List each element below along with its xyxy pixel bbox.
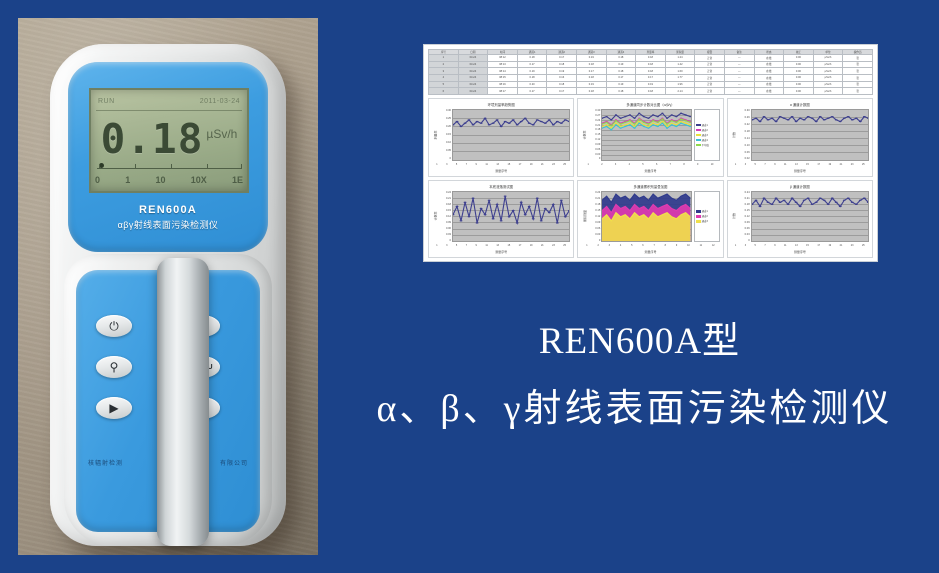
y-tick-label: 0.21: [588, 197, 600, 200]
table-cell: 0.16: [547, 74, 577, 81]
legend-label: 通道4: [702, 138, 708, 142]
y-tick-label: 0.03: [738, 233, 750, 236]
y-axis-label: 计数: [731, 191, 738, 243]
y-tick-label: 0.09: [588, 221, 600, 224]
y-tick-label: 0.15: [588, 133, 600, 136]
x-tick-label: 7: [466, 163, 467, 166]
table-cell: 0.18: [576, 61, 606, 68]
table-cell: 在线: [754, 74, 784, 81]
table-cell: 3: [429, 68, 459, 75]
legend-swatch: [696, 144, 701, 147]
table-cell: 正常: [695, 74, 725, 81]
plot-area: [452, 191, 570, 243]
x-axis-label: 测量序号: [731, 168, 869, 174]
device-model-label: REN600A: [68, 204, 268, 216]
lcd-bargraph: [97, 161, 241, 169]
x-tick-label: 25: [563, 244, 566, 247]
legend-label: 通道3: [702, 219, 708, 223]
x-tick-label: 19: [828, 163, 831, 166]
x-tick-label: 17: [817, 244, 820, 247]
table-cell: 0.19: [517, 68, 547, 75]
table-cell: 0.18: [576, 88, 606, 95]
y-tick-label: 0.10: [439, 141, 451, 144]
legend-item: 通道3: [696, 133, 718, 137]
y-axis-label: 累积剂量: [581, 191, 588, 243]
y-tick-label: 0.21: [738, 197, 750, 200]
table-cell: 0.19: [576, 55, 606, 62]
x-tick-label: 5: [456, 244, 457, 247]
table-cell: 1.24: [665, 55, 695, 62]
table-cell: 在线: [754, 68, 784, 75]
table-cell: 08:15: [488, 74, 518, 81]
x-tick-label: 23: [851, 163, 854, 166]
chart-legend: 通道1通道2通道3通道4平均值: [694, 109, 720, 161]
x-tick-label: 21: [840, 244, 843, 247]
lcd-unit: µSv/h: [206, 127, 237, 141]
table-cell: 1: [429, 55, 459, 62]
x-tick-label: 8: [665, 244, 666, 247]
brand-text-left: 核辐射检测: [88, 458, 123, 467]
y-tick-label: 0.10: [738, 144, 750, 147]
start-button[interactable]: ▶: [96, 397, 132, 419]
y-axis-ticks: 0.300.260.220.180.140.100.060.02: [738, 109, 751, 161]
y-tick-label: 0.14: [738, 137, 750, 140]
table-cell: 正常: [695, 88, 725, 95]
table-cell: 在线: [754, 81, 784, 88]
x-tick-label: 3: [446, 163, 447, 166]
table-cell: 2.14: [665, 88, 695, 95]
legend-label: 通道1: [702, 123, 708, 127]
legend-item: 通道2: [696, 128, 718, 132]
table-cell: 0.00: [784, 55, 814, 62]
table-cell: 0.18: [636, 88, 666, 95]
table-cell: 08:14: [488, 68, 518, 75]
table-cell: —: [724, 61, 754, 68]
x-tick-label: 1: [735, 163, 736, 166]
lcd-scale-labels: 0 1 10 10X 1E: [95, 173, 243, 187]
y-axis-label: 计数: [731, 109, 738, 161]
table-cell: 0.19: [606, 81, 636, 88]
x-axis-label: 测量序号: [432, 249, 570, 255]
chart-body: 计数率0.240.210.180.150.120.090.060.030: [432, 191, 570, 243]
x-tick-label: 2: [601, 163, 602, 166]
y-tick-label: 0.15: [439, 209, 451, 212]
x-tick-label: 13: [795, 244, 798, 247]
x-tick-label: 7: [653, 244, 654, 247]
chart-body: 累积剂量0.240.210.180.150.120.090.060.030通道1…: [581, 191, 719, 243]
chart-grid: 环境剂量率趋势图剂量率0.300.250.200.150.100.0501357…: [428, 98, 873, 258]
y-axis-label: 计数率: [432, 191, 439, 243]
y-axis-ticks: 0.240.210.180.150.120.090.060.030: [738, 191, 751, 243]
table-cell: 1.42: [665, 61, 695, 68]
table-cell: 1.96: [665, 81, 695, 88]
table-cell: 0.00: [784, 61, 814, 68]
table-cell: 0.18: [606, 55, 636, 62]
table-row[interactable]: 403-2408:150.180.160.180.170.171.77正常—在线…: [429, 74, 873, 81]
table-cell: 0.17: [547, 55, 577, 62]
table-cell: —: [724, 55, 754, 62]
x-tick-label: 1: [436, 244, 437, 247]
table-cell: 0.18: [606, 88, 636, 95]
x-tick-label: 1: [735, 244, 736, 247]
y-tick-label: 0.05: [439, 149, 451, 152]
x-tick-label: 3: [615, 163, 616, 166]
plot-area: [751, 191, 869, 243]
y-tick-label: 0.21: [439, 197, 451, 200]
x-axis-ticks: 123456789101112: [581, 242, 719, 249]
x-tick-label: 9: [476, 244, 477, 247]
table-cell: µSv/h: [813, 88, 843, 95]
x-tick-label: 10: [687, 244, 690, 247]
y-tick-label: 0.12: [588, 138, 600, 141]
plot-area: [601, 191, 691, 243]
x-tick-label: 11: [485, 163, 487, 166]
table-row[interactable]: 503-2408:160.200.180.190.190.191.96正常—在线…: [429, 81, 873, 88]
product-photo: RUN 2011-03-24 0.18 µSv/h 0 1 10 10X 1E …: [18, 18, 318, 555]
x-tick-label: 11: [784, 163, 786, 166]
chart-title: 多通道累积剂量叠加图: [581, 183, 719, 191]
legend-label: 通道3: [702, 133, 708, 137]
lcd-bargraph-axis: [97, 168, 241, 169]
chart-legend: 通道1通道2通道3: [694, 191, 720, 243]
data-table: 序号日期时间通道1通道2通道3通道4剂量率累积量报警备注状态校正单位操作员 10…: [428, 49, 873, 95]
x-tick-label: 21: [541, 163, 544, 166]
y-tick-label: 0.27: [588, 114, 600, 117]
lcd-reading: 0.18 µSv/h: [91, 112, 247, 166]
x-tick-label: 19: [828, 244, 831, 247]
gridline: [752, 241, 868, 242]
x-axis-label: 测量序号: [581, 249, 719, 255]
x-axis-label: 测量序号: [432, 168, 570, 174]
x-tick-label: 9: [697, 163, 698, 166]
y-tick-label: 0.09: [588, 143, 600, 146]
table-cell: 0.18: [547, 61, 577, 68]
legend-label: 通道1: [702, 209, 708, 213]
legend-swatch: [696, 134, 701, 137]
x-tick-label: 6: [642, 244, 643, 247]
chart-panel[interactable]: β 通道计数图计数0.240.210.180.150.120.090.060.0…: [727, 180, 873, 259]
x-tick-label: 9: [774, 244, 775, 247]
x-tick-label: 25: [862, 163, 865, 166]
table-cell: 0.17: [517, 88, 547, 95]
gridline: [752, 160, 868, 161]
table-cell: 03-24: [458, 68, 488, 75]
x-tick-label: 13: [496, 244, 499, 247]
x-tick-label: 3: [745, 163, 746, 166]
table-cell: 0.18: [517, 74, 547, 81]
gridline: [602, 241, 690, 242]
x-tick-label: 23: [552, 163, 555, 166]
table-cell: 0.18: [636, 68, 666, 75]
table-cell: 1.77: [665, 74, 695, 81]
legend-label: 通道2: [702, 128, 708, 132]
table-cell: —: [724, 88, 754, 95]
play-icon: ▶: [109, 402, 118, 414]
x-tick-label: 15: [508, 163, 511, 166]
x-tick-label: 25: [563, 163, 566, 166]
chart-title: β 通道计数图: [731, 183, 869, 191]
y-tick-label: 0.30: [588, 109, 600, 112]
table-cell: 0.18: [636, 61, 666, 68]
table-cell: 0.18: [636, 55, 666, 62]
x-tick-label: 8: [683, 163, 684, 166]
table-cell: 张: [843, 74, 873, 81]
y-tick-label: 0.12: [738, 215, 750, 218]
power-button[interactable]: ⏻: [96, 315, 132, 337]
lcd-display: RUN 2011-03-24 0.18 µSv/h 0 1 10 10X 1E: [89, 88, 249, 193]
x-axis-ticks: 12345678910: [581, 161, 719, 168]
table-cell: 张: [843, 81, 873, 88]
lcd-tick: [135, 164, 136, 169]
y-tick-label: 0.25: [439, 117, 451, 120]
table-cell: 08:12: [488, 55, 518, 62]
y-tick-label: 0.24: [588, 191, 600, 194]
y-tick-label: 0.15: [738, 209, 750, 212]
x-tick-label: 9: [676, 244, 677, 247]
x-tick-label: 3: [446, 244, 447, 247]
chart-panel[interactable]: 多通道同步计数对比图（α/β/γ）计数率0.300.270.240.210.18…: [577, 98, 723, 177]
x-axis-label: 测量序号: [731, 249, 869, 255]
x-tick-label: 7: [764, 163, 765, 166]
y-tick-label: 0.20: [439, 125, 451, 128]
hand-strap: [157, 258, 209, 546]
y-tick-label: 0.06: [588, 148, 600, 151]
y-tick-label: 0.15: [588, 209, 600, 212]
table-cell: µSv/h: [813, 81, 843, 88]
lcd-status-row: RUN 2011-03-24: [91, 93, 247, 109]
table-row[interactable]: 603-2408:170.170.170.180.180.182.14正常—在线…: [429, 88, 873, 95]
table-cell: 0.00: [784, 88, 814, 95]
table-body: 103-2408:120.180.170.190.180.181.24正常—在线…: [429, 55, 873, 95]
x-tick-label: 19: [530, 244, 533, 247]
y-axis-ticks: 0.300.270.240.210.180.150.120.090.060.03…: [588, 109, 601, 161]
chart-panel[interactable]: 多通道累积剂量叠加图累积剂量0.240.210.180.150.120.090.…: [577, 180, 723, 259]
table-cell: 0.00: [784, 68, 814, 75]
table-cell: 1.60: [665, 68, 695, 75]
table-cell: 0.17: [606, 74, 636, 81]
table-cell: 张: [843, 68, 873, 75]
chart-panel[interactable]: 本底涨落测试图计数率0.240.210.180.150.120.090.060.…: [428, 180, 574, 259]
table-cell: µSv/h: [813, 61, 843, 68]
table-cell: 03-24: [458, 55, 488, 62]
table-cell: 08:17: [488, 88, 518, 95]
chart-body: 计数0.240.210.180.150.120.090.060.030: [731, 191, 869, 243]
chart-panel[interactable]: 环境剂量率趋势图剂量率0.300.250.200.150.100.0501357…: [428, 98, 574, 177]
x-tick-label: 5: [755, 163, 756, 166]
x-tick-label: 15: [806, 163, 809, 166]
table-cell: 0.18: [606, 68, 636, 75]
lcd-tick: [171, 164, 172, 169]
table-cell: 0.19: [576, 81, 606, 88]
x-tick-label: 5: [755, 244, 756, 247]
chart-title: 环境剂量率趋势图: [432, 101, 570, 109]
x-tick-label: 21: [840, 163, 843, 166]
y-tick-label: 0.18: [738, 130, 750, 133]
table-cell: µSv/h: [813, 74, 843, 81]
x-axis-ticks: 135791113151719212325: [731, 161, 869, 168]
y-tick-label: 0.21: [588, 124, 600, 127]
plot-area: [751, 109, 869, 161]
x-tick-label: 7: [670, 163, 671, 166]
gridline: [602, 160, 690, 161]
lcd-scale-label: 0: [95, 175, 100, 185]
legend-swatch: [696, 215, 701, 218]
legend-item: 通道3: [696, 219, 718, 223]
chart-body: 计数0.300.260.220.180.140.100.060.02: [731, 109, 869, 161]
y-tick-label: 0.26: [738, 116, 750, 119]
y-axis-ticks: 0.240.210.180.150.120.090.060.030: [439, 191, 452, 243]
chart-title: α 通道计数图: [731, 101, 869, 109]
x-tick-label: 13: [496, 163, 499, 166]
y-axis-ticks: 0.300.250.200.150.100.050: [439, 109, 452, 161]
table-cell: µSv/h: [813, 68, 843, 75]
x-tick-label: 9: [774, 163, 775, 166]
y-tick-label: 0.24: [439, 191, 451, 194]
x-tick-label: 7: [466, 244, 467, 247]
table-cell: 正常: [695, 55, 725, 62]
table-cell: —: [724, 68, 754, 75]
plot-area: [452, 109, 570, 161]
y-axis-ticks: 0.240.210.180.150.120.090.060.030: [588, 191, 601, 243]
legend-swatch: [696, 139, 701, 142]
y-tick-label: 0.06: [439, 227, 451, 230]
table-cell: 正常: [695, 81, 725, 88]
table-cell: 正常: [695, 61, 725, 68]
y-tick-label: 0.15: [439, 133, 451, 136]
x-tick-label: 5: [642, 163, 643, 166]
table-cell: 0.00: [784, 74, 814, 81]
x-tick-label: 25: [862, 244, 865, 247]
x-tick-label: 1: [436, 163, 437, 166]
x-tick-label: 15: [806, 244, 809, 247]
legend-swatch: [696, 124, 701, 127]
power-icon: ⏻: [109, 320, 119, 332]
product-title-line1: REN600A型: [340, 320, 939, 364]
y-axis-label: 计数率: [581, 109, 588, 161]
y-tick-label: 0.18: [738, 203, 750, 206]
legend-swatch: [696, 220, 701, 223]
x-tick-label: 9: [476, 163, 477, 166]
x-tick-label: 10: [711, 163, 714, 166]
x-tick-label: 19: [530, 163, 533, 166]
table-row[interactable]: 303-2408:140.190.190.170.180.181.60正常—在线…: [429, 68, 873, 75]
legend-swatch: [696, 129, 701, 132]
x-tick-label: 4: [629, 163, 630, 166]
table-cell: 0.18: [517, 55, 547, 62]
table-cell: 0.19: [606, 61, 636, 68]
device-model-block: REN600A αβγ射线表面污染检测仪: [68, 204, 268, 231]
legend-label: 通道2: [702, 214, 708, 218]
x-tick-label: 15: [508, 244, 511, 247]
lcd-scale-label: 10: [155, 175, 165, 185]
x-axis-ticks: 135791113151719212325: [432, 161, 570, 168]
y-axis-label: 剂量率: [432, 109, 439, 161]
y-tick-label: 0.03: [439, 233, 451, 236]
y-tick-label: 0.18: [439, 203, 451, 206]
table-row[interactable]: 103-2408:120.180.170.190.180.181.24正常—在线…: [429, 55, 873, 62]
x-tick-label: 11: [485, 244, 487, 247]
x-tick-label: 11: [784, 244, 786, 247]
x-tick-label: 5: [631, 244, 632, 247]
legend-swatch: [696, 210, 701, 213]
table-cell: 4: [429, 74, 459, 81]
table-cell: 0.19: [547, 68, 577, 75]
table-cell: 08:13: [488, 61, 518, 68]
software-screenshot: 序号日期时间通道1通道2通道3通道4剂量率累积量报警备注状态校正单位操作员 10…: [423, 44, 878, 262]
legend-item: 通道1: [696, 123, 718, 127]
legend-label: 平均值: [702, 143, 709, 147]
backlight-button[interactable]: ⚲: [96, 356, 132, 378]
table-cell: —: [724, 74, 754, 81]
x-tick-label: 12: [712, 244, 715, 247]
table-cell: 正常: [695, 68, 725, 75]
y-tick-label: 0.24: [738, 191, 750, 194]
table-cell: 0.18: [547, 81, 577, 88]
x-axis-ticks: 135791113151719212325: [731, 242, 869, 249]
x-tick-label: 1: [586, 244, 587, 247]
table-cell: 6: [429, 88, 459, 95]
chart-title: 本底涨落测试图: [432, 183, 570, 191]
x-tick-label: 21: [541, 244, 544, 247]
y-tick-label: 0.18: [588, 128, 600, 131]
y-tick-label: 0.24: [588, 119, 600, 122]
title-block: REN600A型 α、β、γ射线表面污染检测仪: [330, 320, 939, 434]
table-cell: µSv/h: [813, 55, 843, 62]
y-tick-label: 0.22: [738, 123, 750, 126]
y-tick-label: 0.30: [439, 109, 451, 112]
x-tick-label: 17: [519, 244, 522, 247]
brand-text-right: 有限公司: [220, 458, 248, 467]
chart-body: 计数率0.300.270.240.210.180.150.120.090.060…: [581, 109, 719, 161]
table-cell: 0.17: [576, 68, 606, 75]
y-tick-label: 0.06: [738, 227, 750, 230]
lcd-status-right: 2011-03-24: [200, 98, 240, 105]
chart-body: 剂量率0.300.250.200.150.100.050: [432, 109, 570, 161]
lcd-separator: [96, 110, 242, 111]
table-cell: 在线: [754, 88, 784, 95]
backlight-icon: ⚲: [110, 361, 119, 373]
lcd-status-left: RUN: [98, 98, 115, 105]
table-cell: 张: [843, 55, 873, 62]
table-cell: 张: [843, 88, 873, 95]
table-row[interactable]: 203-2408:130.170.180.180.190.181.42正常—在线…: [429, 61, 873, 68]
plot-area: [601, 109, 691, 161]
device-description-label: αβγ射线表面污染检测仪: [68, 218, 268, 231]
y-tick-label: 0.03: [588, 153, 600, 156]
chart-panel[interactable]: α 通道计数图计数0.300.260.220.180.140.100.060.0…: [727, 98, 873, 177]
table-cell: 0.18: [576, 74, 606, 81]
table-cell: 03-24: [458, 88, 488, 95]
lcd-scale-label: 1: [125, 175, 130, 185]
x-axis-ticks: 135791113151719212325: [432, 242, 570, 249]
x-axis-label: 测量序号: [581, 168, 719, 174]
x-tick-label: 2: [597, 244, 598, 247]
x-tick-label: 6: [656, 163, 657, 166]
x-tick-label: 13: [795, 163, 798, 166]
y-tick-label: 0.12: [588, 215, 600, 218]
legend-item: 通道4: [696, 138, 718, 142]
table-cell: 08:16: [488, 81, 518, 88]
table-cell: 0.17: [636, 74, 666, 81]
lcd-tick: [241, 164, 242, 169]
x-tick-label: 1: [588, 163, 589, 166]
x-tick-label: 23: [851, 244, 854, 247]
y-tick-label: 0.18: [588, 203, 600, 206]
legend-item: 通道2: [696, 214, 718, 218]
legend-item: 通道1: [696, 209, 718, 213]
table-cell: 03-24: [458, 81, 488, 88]
y-tick-label: 0.06: [738, 151, 750, 154]
